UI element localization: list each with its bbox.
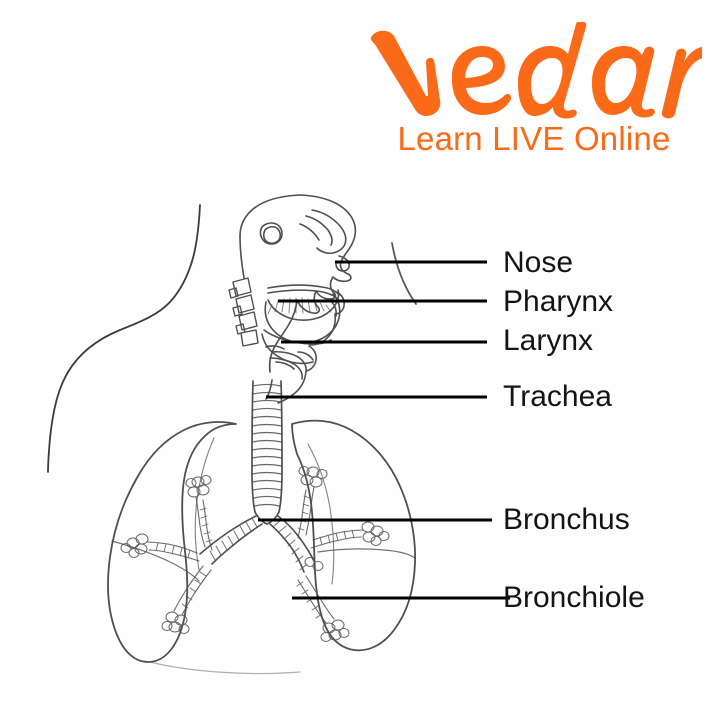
respiratory-system-diagram [0, 180, 720, 720]
trachea [252, 381, 282, 512]
left-bronchiole-tree [121, 476, 212, 634]
vedantu-logo: Learn LIVE Online [366, 22, 702, 168]
label-bronchus: Bronchus [503, 505, 630, 535]
label-trachea: Trachea [503, 382, 612, 412]
logo-tagline: Learn LIVE Online [397, 120, 670, 158]
head-sagittal-section [229, 195, 355, 403]
page-root: Learn LIVE Online [0, 0, 720, 720]
label-larynx: Larynx [503, 326, 593, 356]
label-pharynx: Pharynx [503, 287, 613, 317]
label-nose: Nose [503, 248, 573, 278]
vedantu-wordmark-icon [366, 22, 702, 122]
torso-outline [48, 205, 555, 488]
label-bronchiole: Bronchiole [503, 583, 645, 613]
